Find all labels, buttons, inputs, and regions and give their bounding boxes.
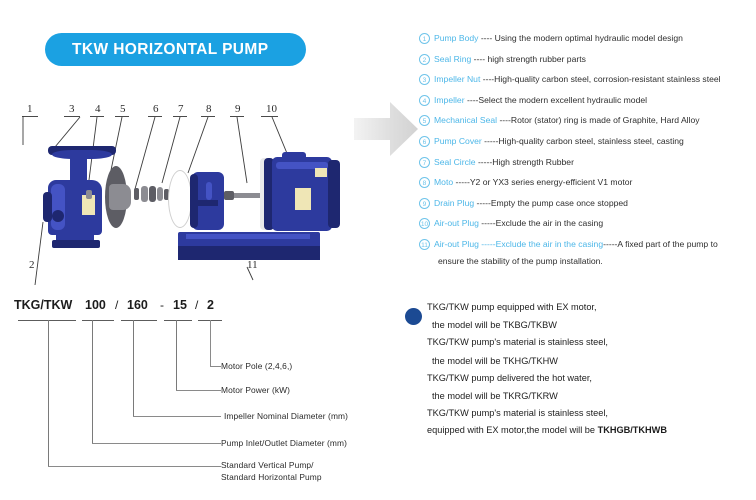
exploded-pump-diagram: 1 3 4 5 6 7 8 9 10 — [10, 100, 355, 285]
variant-note-final-prefix: equipped with EX motor,the model will be — [427, 425, 598, 435]
code-poles: 2 — [207, 298, 214, 312]
motor-nameplate — [295, 188, 311, 210]
legend-label-7: Seal Circle — [434, 157, 476, 167]
legend-label-10: Air-out Plug — [434, 218, 479, 228]
page-title: TKW HORIZONTAL PUMP — [72, 41, 268, 59]
parts-legend-list: 1 Pump Body ---- Using the modern optima… — [419, 33, 753, 267]
nom-leader-v-standard — [48, 320, 49, 466]
base-plate-top-highlight — [186, 234, 310, 239]
seal-ring-a — [134, 188, 139, 200]
base-plate-front — [178, 246, 320, 260]
legend-dash-1: ---- — [478, 33, 494, 43]
legend-dash-11: ----- — [479, 239, 496, 249]
nom-leader-h-power — [176, 390, 221, 391]
legend-number-icon-11: 11 — [419, 239, 430, 250]
legend-dash-10: ----- — [479, 218, 496, 228]
legend-number-icon-5: 5 — [419, 115, 430, 126]
drain-plug-boss — [52, 210, 64, 222]
legend-dash-7: ----- — [476, 157, 493, 167]
legend-number-icon-10: 10 — [419, 218, 430, 229]
legend-number-icon-1: 1 — [419, 33, 430, 44]
seal-circle-oring — [168, 170, 192, 228]
nom-rule-inlet — [82, 320, 114, 321]
legend-item-5: 5 Mechanical Seal ----Rotor (stator) rin… — [419, 115, 753, 126]
shaft-end — [224, 191, 234, 200]
legend-label-2: Seal Ring — [434, 54, 471, 64]
legend-number-icon-6: 6 — [419, 136, 430, 147]
pump-cover-rib — [206, 182, 212, 200]
mechanical-seal — [157, 187, 163, 201]
legend-dash-3: ---- — [480, 74, 494, 84]
variant-note-line-1: TKG/TKW pump equipped with EX motor, — [427, 303, 750, 312]
legend-dash-6: ----- — [482, 136, 499, 146]
legend-item-7: 7 Seal Circle -----High strength Rubber — [419, 157, 753, 168]
motor-sticker — [315, 168, 327, 177]
variant-note-line-6: the model will be TKRG/TKRW — [432, 392, 750, 401]
legend-desc-4: Select the modern excellent hydraulic mo… — [478, 95, 647, 105]
nom-leader-v-power — [176, 320, 177, 390]
nom-label-standard-pump-line1: Standard Vertical Pump/ — [221, 460, 314, 470]
nom-label-standard-pump-line2: Standard Horizontal Pump — [221, 472, 322, 482]
model-variant-notes: TKG/TKW pump equipped with EX motor, the… — [405, 303, 750, 436]
callout-number-11: 11 — [247, 260, 258, 271]
code-slash-1: / — [115, 298, 118, 312]
callout-number-2: 2 — [29, 260, 35, 271]
pump-cover-slot — [196, 200, 218, 206]
legend-body-10: Air-out Plug -----Exclude the air in the… — [434, 218, 753, 229]
nom-leader-h-inlet — [92, 443, 221, 444]
variant-note-line-5: TKG/TKW pump delivered the hot water, — [427, 374, 750, 383]
nom-label-impeller-dia: Impeller Nominal Diameter (mm) — [224, 411, 348, 421]
legend-body-6: Pump Cover -----High-quality carbon stee… — [434, 136, 753, 147]
legend-item-2: 2 Seal Ring ---- high strength rubber pa… — [419, 54, 753, 65]
legend-dash-8: ----- — [453, 177, 470, 187]
impeller-nut — [86, 190, 92, 199]
legend-label-5: Mechanical Seal — [434, 115, 497, 125]
variant-note-line-8: equipped with EX motor,the model will be… — [427, 426, 750, 435]
variant-note-line-7: TKG/TKW pump's material is stainless ste… — [427, 409, 750, 418]
nom-label-motor-power: Motor Power (kW) — [221, 385, 290, 395]
legend-desc-line2-11: ensure the stability of the pump install… — [438, 256, 753, 267]
code-impeller-dia: 160 — [127, 298, 148, 312]
legend-body-5: Mechanical Seal ----Rotor (stator) ring … — [434, 115, 753, 126]
legend-item-3: 3 Impeller Nut ----High-quality carbon s… — [419, 74, 753, 85]
flow-arrow — [352, 98, 420, 160]
model-nomenclature-diagram: TKG/TKW 100 / 160 - 15 / 2 Motor Pole (2… — [14, 296, 404, 496]
legend-desc-9: Empty the pump case once stopped — [491, 198, 628, 208]
legend-label-1: Pump Body — [434, 33, 478, 43]
legend-dash-4: ---- — [465, 95, 479, 105]
nom-leader-h-poles — [210, 366, 221, 367]
legend-desc-8: Y2 or YX3 series energy-efficient V1 mot… — [470, 177, 633, 187]
legend-dash-9: ----- — [474, 198, 491, 208]
nom-label-motor-pole: Motor Pole (2,4,6,) — [221, 361, 292, 371]
legend-label-11: Air-out Plug — [434, 239, 479, 249]
variant-note-line-2: the model will be TKBG/TKBW — [432, 321, 750, 330]
legend-body-1: Pump Body ---- Using the modern optimal … — [434, 33, 753, 44]
nom-leader-v-poles — [210, 320, 211, 366]
legend-item-11: 11 Air-out Plug -----Exclude the air in … — [419, 239, 753, 250]
page-title-banner: TKW HORIZONTAL PUMP — [45, 33, 306, 66]
legend-body-9: Drain Plug -----Empty the pump case once… — [434, 198, 753, 209]
pump-body-base — [52, 240, 100, 248]
legend-number-icon-4: 4 — [419, 95, 430, 106]
seal-ring-b — [141, 186, 148, 202]
legend-desc-5: Rotor (stator) ring is made of Graphite,… — [511, 115, 700, 125]
nom-leader-v-inlet — [92, 320, 93, 443]
nom-rule-impeller — [121, 320, 157, 321]
legend-item-1: 1 Pump Body ---- Using the modern optima… — [419, 33, 753, 44]
legend-desc-7: High strength Rubber — [492, 157, 574, 167]
legend-number-icon-8: 8 — [419, 177, 430, 188]
legend-body-8: Moto -----Y2 or YX3 series energy-effici… — [434, 177, 753, 188]
legend-dash-5: ---- — [497, 115, 511, 125]
nom-rule-prefix — [18, 320, 76, 321]
variant-note-final-model: TKHGB/TKHWB — [598, 425, 667, 435]
legend-desc-3: High-quality carbon steel, corrosion-res… — [494, 74, 720, 84]
pump-body-suction-flange — [43, 192, 52, 222]
legend-item-4: 4 Impeller ----Select the modern excelle… — [419, 95, 753, 106]
nom-label-inlet-outlet: Pump Inlet/Outlet Diameter (mm) — [221, 438, 347, 448]
legend-item-10: 10 Air-out Plug -----Exclude the air in … — [419, 218, 753, 229]
code-dash: - — [160, 298, 164, 312]
legend-label-8: Moto — [434, 177, 453, 187]
legend-number-icon-7: 7 — [419, 157, 430, 168]
legend-dash-2: ---- — [471, 54, 487, 64]
nom-leader-h-standard — [48, 466, 221, 467]
motor-terminal-box-side — [328, 160, 340, 228]
variant-note-line-4: the model will be TKHG/TKHW — [432, 357, 750, 366]
legend-number-icon-9: 9 — [419, 198, 430, 209]
legend-desc-10: Exclude the air in the casing — [496, 218, 604, 228]
nom-label-standard-pump: Standard Vertical Pump/ Standard Horizon… — [221, 460, 322, 482]
legend-body-3: Impeller Nut ----High-quality carbon ste… — [434, 74, 753, 85]
legend-desc-blue-11: Exclude the air in the casing — [496, 239, 604, 249]
legend-body-11: Air-out Plug -----Exclude the air in the… — [434, 239, 753, 250]
nom-leader-v-impeller — [133, 320, 134, 416]
legend-body-4: Impeller ----Select the modern excellent… — [434, 95, 753, 106]
legend-desc-tail-11: -----A fixed part of the pump to — [603, 239, 718, 249]
legend-item-8: 8 Moto -----Y2 or YX3 series energy-effi… — [419, 177, 753, 188]
bullet-point-icon — [405, 308, 422, 325]
legend-label-9: Drain Plug — [434, 198, 474, 208]
code-power: 15 — [173, 298, 187, 312]
motor-terminal-box — [282, 152, 306, 162]
legend-item-9: 9 Drain Plug -----Empty the pump case on… — [419, 198, 753, 209]
code-inlet-outlet: 100 — [85, 298, 106, 312]
legend-desc-1: Using the modern optimal hydraulic model… — [495, 33, 683, 43]
code-slash-2: / — [195, 298, 198, 312]
legend-label-6: Pump Cover — [434, 136, 482, 146]
legend-label-3: Impeller Nut — [434, 74, 480, 84]
legend-desc-2: high strength rubber parts — [488, 54, 586, 64]
legend-body-7: Seal Circle -----High strength Rubber — [434, 157, 753, 168]
nom-rule-power — [164, 320, 192, 321]
legend-body-2: Seal Ring ---- high strength rubber part… — [434, 54, 753, 65]
seal-ring-c — [149, 186, 156, 202]
legend-desc-6: High-quality carbon steel, stainless ste… — [498, 136, 683, 146]
legend-item-6: 6 Pump Cover -----High-quality carbon st… — [419, 136, 753, 147]
nom-leader-h-impeller — [133, 416, 221, 417]
pump-body-highlight — [51, 184, 65, 230]
legend-number-icon-3: 3 — [419, 74, 430, 85]
impeller-hub — [109, 184, 131, 210]
legend-label-4: Impeller — [434, 95, 465, 105]
variant-note-line-3: TKG/TKW pump's material is stainless ste… — [427, 338, 750, 347]
legend-number-icon-2: 2 — [419, 54, 430, 65]
code-prefix: TKG/TKW — [14, 298, 72, 312]
